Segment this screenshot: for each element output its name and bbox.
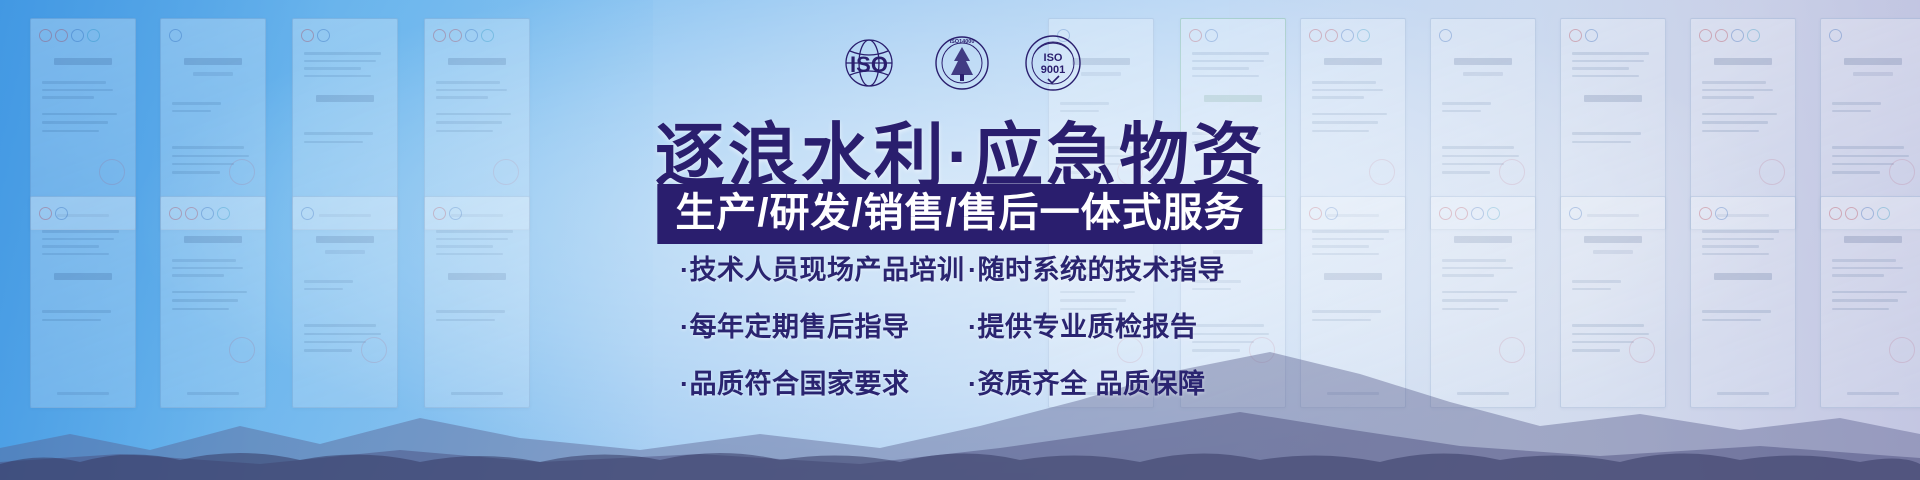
bullet-item: ·技术人员现场产品培训 bbox=[680, 248, 968, 287]
banner-content: 逐浪水利·应急物资 生产/研发/销售/售后一体式服务 ·技术人员现场产品培训 ·… bbox=[0, 0, 1920, 480]
bullet-item: ·资质齐全 品质保障 bbox=[968, 362, 1240, 401]
feature-bullet-list: ·技术人员现场产品培训 ·随时系统的技术指导 ·每年定期售后指导 ·提供专业质检… bbox=[680, 248, 1240, 401]
bullet-item: ·随时系统的技术指导 bbox=[968, 248, 1240, 287]
promo-banner: ISO ISO14000 ISO 9001 bbox=[0, 0, 1920, 480]
bullet-item: ·每年定期售后指导 bbox=[680, 305, 968, 344]
bullet-item: ·提供专业质检报告 bbox=[968, 305, 1240, 344]
banner-subtitle-bar: 生产/研发/销售/售后一体式服务 bbox=[657, 184, 1262, 244]
bullet-item: ·品质符合国家要求 bbox=[680, 362, 968, 401]
